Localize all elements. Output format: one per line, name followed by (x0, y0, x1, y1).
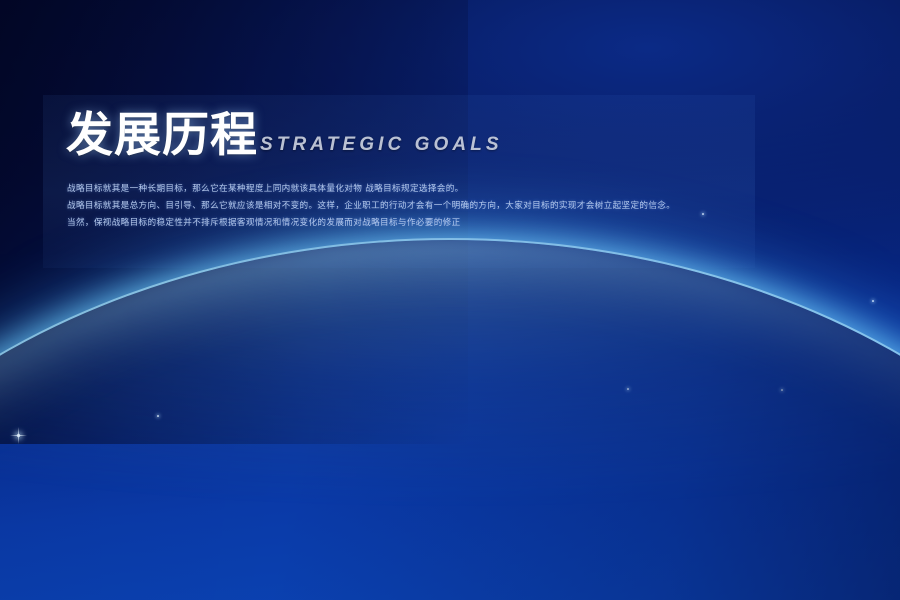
headline-group: 发展历程 STRATEGIC GOALS (66, 112, 503, 159)
earth-globe (0, 240, 900, 600)
page-subtitle: STRATEGIC GOALS (260, 134, 503, 156)
body-copy: 战略目标就其是一种长期目标，那么它在某种程度上同内就该具体量化对物 战略目标规定… (67, 183, 757, 234)
body-line: 战略目标就其是总方向、目引导、那么它就应该是相对不变的。这样，企业职工的行动才会… (67, 200, 757, 213)
page-title: 发展历程 (66, 112, 258, 159)
hero-banner: 发展历程 STRATEGIC GOALS 战略目标就其是一种长期目标，那么它在某… (0, 0, 900, 600)
body-line: 战略目标就其是一种长期目标，那么它在某种程度上同内就该具体量化对物 战略目标规定… (67, 183, 757, 196)
body-line: 当然，保视战略目标的稳定性并不排斥根据客观情况和情况变化的发展而对战略目标与作必… (67, 217, 757, 230)
earth-terminator-shading (0, 240, 900, 600)
